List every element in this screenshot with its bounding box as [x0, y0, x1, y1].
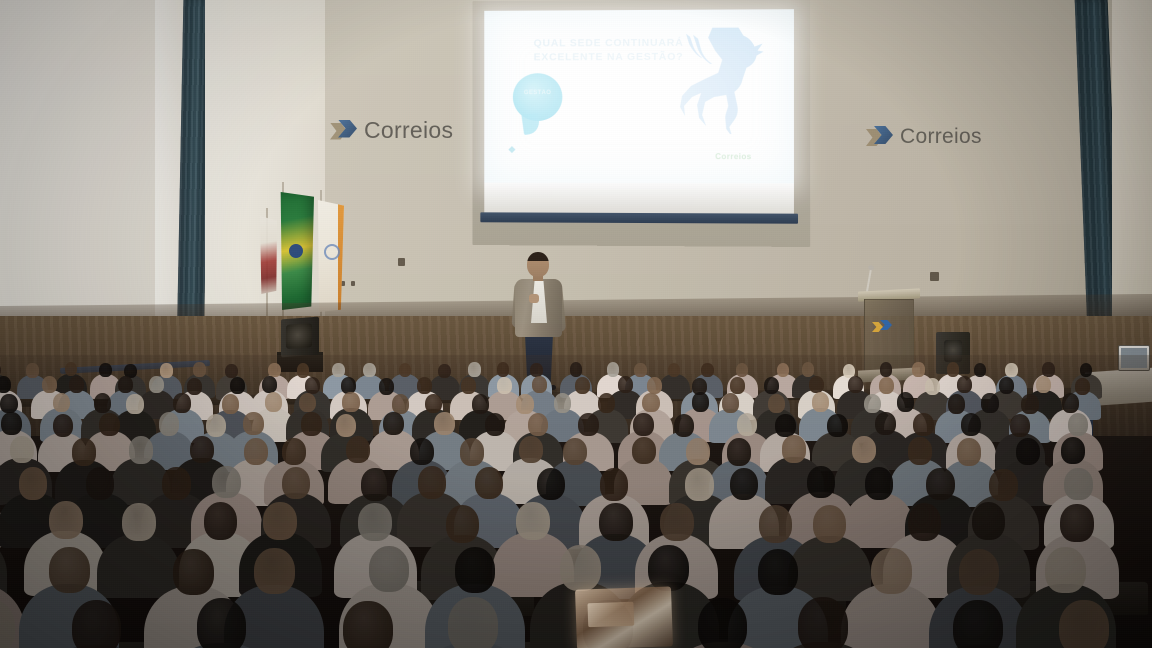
audience-member-head [99, 413, 119, 436]
audience-member-head [383, 412, 403, 435]
audience-member-head [686, 438, 710, 465]
audience-member-head [49, 501, 83, 539]
audience-member-head [1036, 376, 1051, 393]
audience-member-head [618, 376, 633, 393]
speech-bubble-label: GESTÃO [516, 90, 560, 96]
audience-member-head [1075, 378, 1090, 395]
audience-member-head [206, 414, 226, 437]
audience-member-head [225, 364, 238, 378]
audience-member-head [759, 505, 793, 543]
audience-member-head [692, 392, 709, 412]
audience-member-head [10, 436, 34, 463]
audience-member-head [827, 414, 847, 437]
audience-member-head [575, 377, 590, 394]
audience-member-head [634, 363, 647, 377]
audience-member-head [537, 468, 566, 500]
audience-member-head [865, 467, 894, 499]
audience-member-head [519, 436, 543, 463]
audience-member-head [1021, 394, 1038, 414]
audience-member-head [0, 394, 17, 414]
audience-member-head [305, 377, 320, 394]
audience-member-head [332, 363, 345, 377]
audience-member-head [730, 468, 759, 500]
audience-member-head [160, 363, 173, 377]
audience-member-head [852, 436, 876, 463]
flag-brasil [280, 192, 314, 310]
audience-member-head [647, 377, 662, 394]
audience-member-head [399, 363, 412, 377]
audience-member-head [497, 377, 512, 394]
audience-member-head [230, 377, 245, 394]
audience-member-head [297, 363, 310, 377]
speech-bubble-icon [513, 73, 562, 121]
audience-member-head [660, 503, 694, 541]
audience-member-head [1060, 504, 1094, 542]
audience-member-head [864, 394, 881, 414]
audience-member-head [446, 505, 480, 543]
audience-member-head [361, 468, 390, 500]
audience-member-head [764, 377, 779, 394]
audience-member-head [528, 413, 548, 436]
projected-slide: QUAL SEDE CONTINUARÁ EXCELENTE NA GESTÃO… [484, 9, 794, 185]
audience-member-head [263, 502, 297, 540]
audience-member-head [736, 363, 749, 377]
correios-wordmark: Correios [900, 125, 982, 149]
audience-member-head [72, 600, 122, 648]
audience-member-head [222, 394, 239, 414]
audience-member-head [282, 467, 311, 499]
rearing-horse-icon [679, 27, 772, 134]
slide-small-mark: ❖ [508, 145, 516, 156]
audience-member-head [460, 438, 484, 465]
wall-outlet [398, 258, 405, 266]
correios-arrow-icon [866, 125, 894, 149]
audience-member-head [897, 392, 914, 412]
audience-member-head [570, 362, 583, 376]
audience-member-head [265, 392, 282, 412]
audience-member-head [358, 503, 392, 541]
audience-member-head [730, 377, 745, 394]
correios-logo-left: Correios [330, 117, 453, 144]
audience-member-head [455, 547, 496, 593]
audience-member-head [727, 438, 751, 465]
audience-member-head [879, 377, 894, 394]
wall-outlet [930, 272, 939, 281]
audience-member-head [72, 438, 96, 465]
audience-member-head [346, 436, 370, 463]
audience-member-head [19, 467, 48, 499]
audience-member-head [632, 437, 656, 464]
audience-member-head [737, 413, 757, 436]
audience-member-head [775, 414, 795, 437]
audience-member-head [122, 503, 156, 541]
audience-member-head [369, 546, 410, 592]
audience-member-head [1062, 393, 1079, 413]
audience-member-head [685, 468, 714, 500]
audience-member-head [947, 362, 960, 376]
flag-distrito-federal [260, 216, 277, 294]
audience-member-head [813, 505, 847, 543]
audience-member-head [912, 362, 925, 376]
audience-member-head [197, 598, 247, 648]
audience-member-head [532, 376, 547, 393]
audience-member-head [438, 364, 451, 378]
audience-member-head [999, 377, 1014, 394]
audience-member-head [1, 412, 21, 435]
audience-member-head [99, 363, 112, 377]
audience-member-head [599, 503, 633, 541]
audience-member-head [989, 469, 1018, 501]
audience-member-head [94, 393, 111, 413]
flag-institucional [318, 200, 344, 312]
audience-member-head [301, 412, 321, 435]
audience-member-head [607, 362, 620, 376]
audience-member-head [972, 502, 1006, 540]
audience-member-head [379, 378, 394, 395]
audience-member-head [86, 467, 115, 499]
audience-member-head [1061, 437, 1085, 464]
audience-member-head [363, 363, 376, 377]
audience-member-head [953, 600, 1003, 648]
audience-member-head [1045, 547, 1086, 593]
audience-member-head [336, 414, 356, 437]
audience-member-head [118, 376, 133, 393]
audience-member-head [758, 549, 799, 595]
audience-member-head [516, 394, 533, 414]
audience-member-head [159, 412, 179, 435]
audience-member-head [1010, 414, 1030, 437]
audience-member-head [668, 363, 681, 377]
audience-member-head [254, 548, 295, 594]
audience-member-head [600, 468, 629, 500]
correios-wordmark: Correios [364, 117, 453, 144]
audience-member-head [49, 547, 90, 593]
presenter-head [527, 252, 549, 277]
audience-member-head [648, 545, 689, 591]
audience-member-head [129, 436, 153, 463]
audience-member-head [243, 412, 263, 435]
audience-member-head [434, 412, 454, 435]
audience-member-head [957, 376, 972, 393]
audience-member-head [908, 503, 942, 541]
audience-member-head [563, 438, 587, 465]
audience-member-head [204, 502, 238, 540]
correios-arrow-icon [330, 119, 358, 143]
audience-member-head [1005, 363, 1018, 377]
audience-member-head [69, 376, 84, 393]
audience-member-head [908, 437, 932, 464]
audience-member-head [268, 363, 281, 377]
audience-member-head [516, 502, 550, 540]
audience-member-head [468, 362, 481, 376]
audience-member-head [530, 363, 543, 377]
audience-member-head [875, 412, 895, 435]
photo-scene: QUAL SEDE CONTINUARÁ EXCELENTE NA GESTÃO… [0, 0, 1152, 648]
slide-corner-logo: Correios [715, 152, 751, 161]
audience-member-head [802, 362, 815, 376]
audience-member-head [173, 393, 190, 413]
audience-member-head [880, 362, 893, 376]
audience-member-head [1080, 363, 1093, 377]
audience-member-head [782, 435, 806, 462]
audience-member-head [244, 438, 268, 465]
audience-member-head [42, 376, 57, 393]
audience-member-head [187, 378, 202, 395]
audience-member-head [343, 601, 393, 648]
audience-member-head [633, 413, 653, 436]
presenter-hand-with-clicker [529, 294, 539, 303]
audience-member-head [53, 414, 73, 437]
microphone-icon [866, 268, 872, 292]
audience-member-head [871, 548, 912, 594]
audience-member-head [798, 597, 848, 648]
audience-member-head [974, 363, 987, 377]
audience-member-head [149, 376, 164, 393]
audience-member-head [560, 545, 601, 591]
audience-member-head [925, 378, 940, 395]
audience-member-head [957, 438, 981, 465]
audience-member-head [342, 392, 359, 412]
audience-member-head [674, 414, 694, 437]
audience-member-head [193, 362, 206, 376]
correios-logo-right: Correios [866, 125, 982, 149]
audience-member-head [497, 362, 510, 376]
stage-monitor-left [281, 317, 319, 358]
audience-member-head [461, 377, 476, 394]
audience-member-head [848, 376, 863, 393]
audience-member-head [812, 392, 829, 412]
audience-member-head [126, 394, 143, 414]
audience-member-head [448, 597, 498, 648]
audience-member-head [913, 413, 933, 436]
audience-member-head [1064, 468, 1093, 500]
audience-member-head [417, 377, 432, 394]
audience-member-head [190, 436, 214, 463]
audience-member-head [1016, 438, 1040, 465]
audience-member-head [722, 393, 739, 413]
audience-member-head [418, 466, 447, 498]
audience-member-head [948, 394, 965, 414]
audience-member-head [701, 363, 714, 377]
audience-member-head [65, 362, 78, 376]
audience-member-head [472, 394, 489, 414]
projection-screen: QUAL SEDE CONTINUARÁ EXCELENTE NA GESTÃO… [472, 0, 810, 247]
audience-member-head [981, 393, 998, 413]
audience-member-head [1059, 600, 1109, 648]
audience-member-head [162, 467, 191, 499]
audience-member-head [768, 394, 785, 414]
audience-member-head [961, 413, 981, 436]
audience-member-head [425, 394, 442, 414]
audience-member-head [282, 438, 306, 465]
audience-member-head [299, 393, 316, 413]
audience-member-head [212, 466, 241, 498]
audience-member-head [554, 393, 571, 413]
audience-member-head [392, 394, 409, 414]
audience-member-head [959, 549, 1000, 595]
screen-lower-skirt [484, 183, 794, 216]
audience-member-head [1068, 413, 1088, 436]
audience-member-head [807, 466, 836, 498]
audience-member-head [809, 376, 824, 393]
screen-weight-bar [480, 212, 798, 223]
audience-member-head [26, 363, 39, 377]
audience-member-head [642, 393, 659, 413]
audience-member-head [475, 467, 504, 499]
foreground-reflective-object [575, 586, 673, 648]
audience-member-head [485, 413, 505, 436]
audience-member-head [777, 363, 790, 377]
audience-member-head [53, 393, 70, 413]
audience-member-head [926, 468, 955, 500]
audience-member-head [698, 598, 748, 648]
audience-member-head [598, 393, 615, 413]
audience-member-head [173, 549, 214, 595]
audience-member-head [578, 413, 598, 436]
audience-member-head [1042, 362, 1055, 376]
audience-member-head [410, 438, 434, 465]
audience-member-head [262, 376, 277, 393]
lectern-correios-icon [872, 320, 896, 332]
